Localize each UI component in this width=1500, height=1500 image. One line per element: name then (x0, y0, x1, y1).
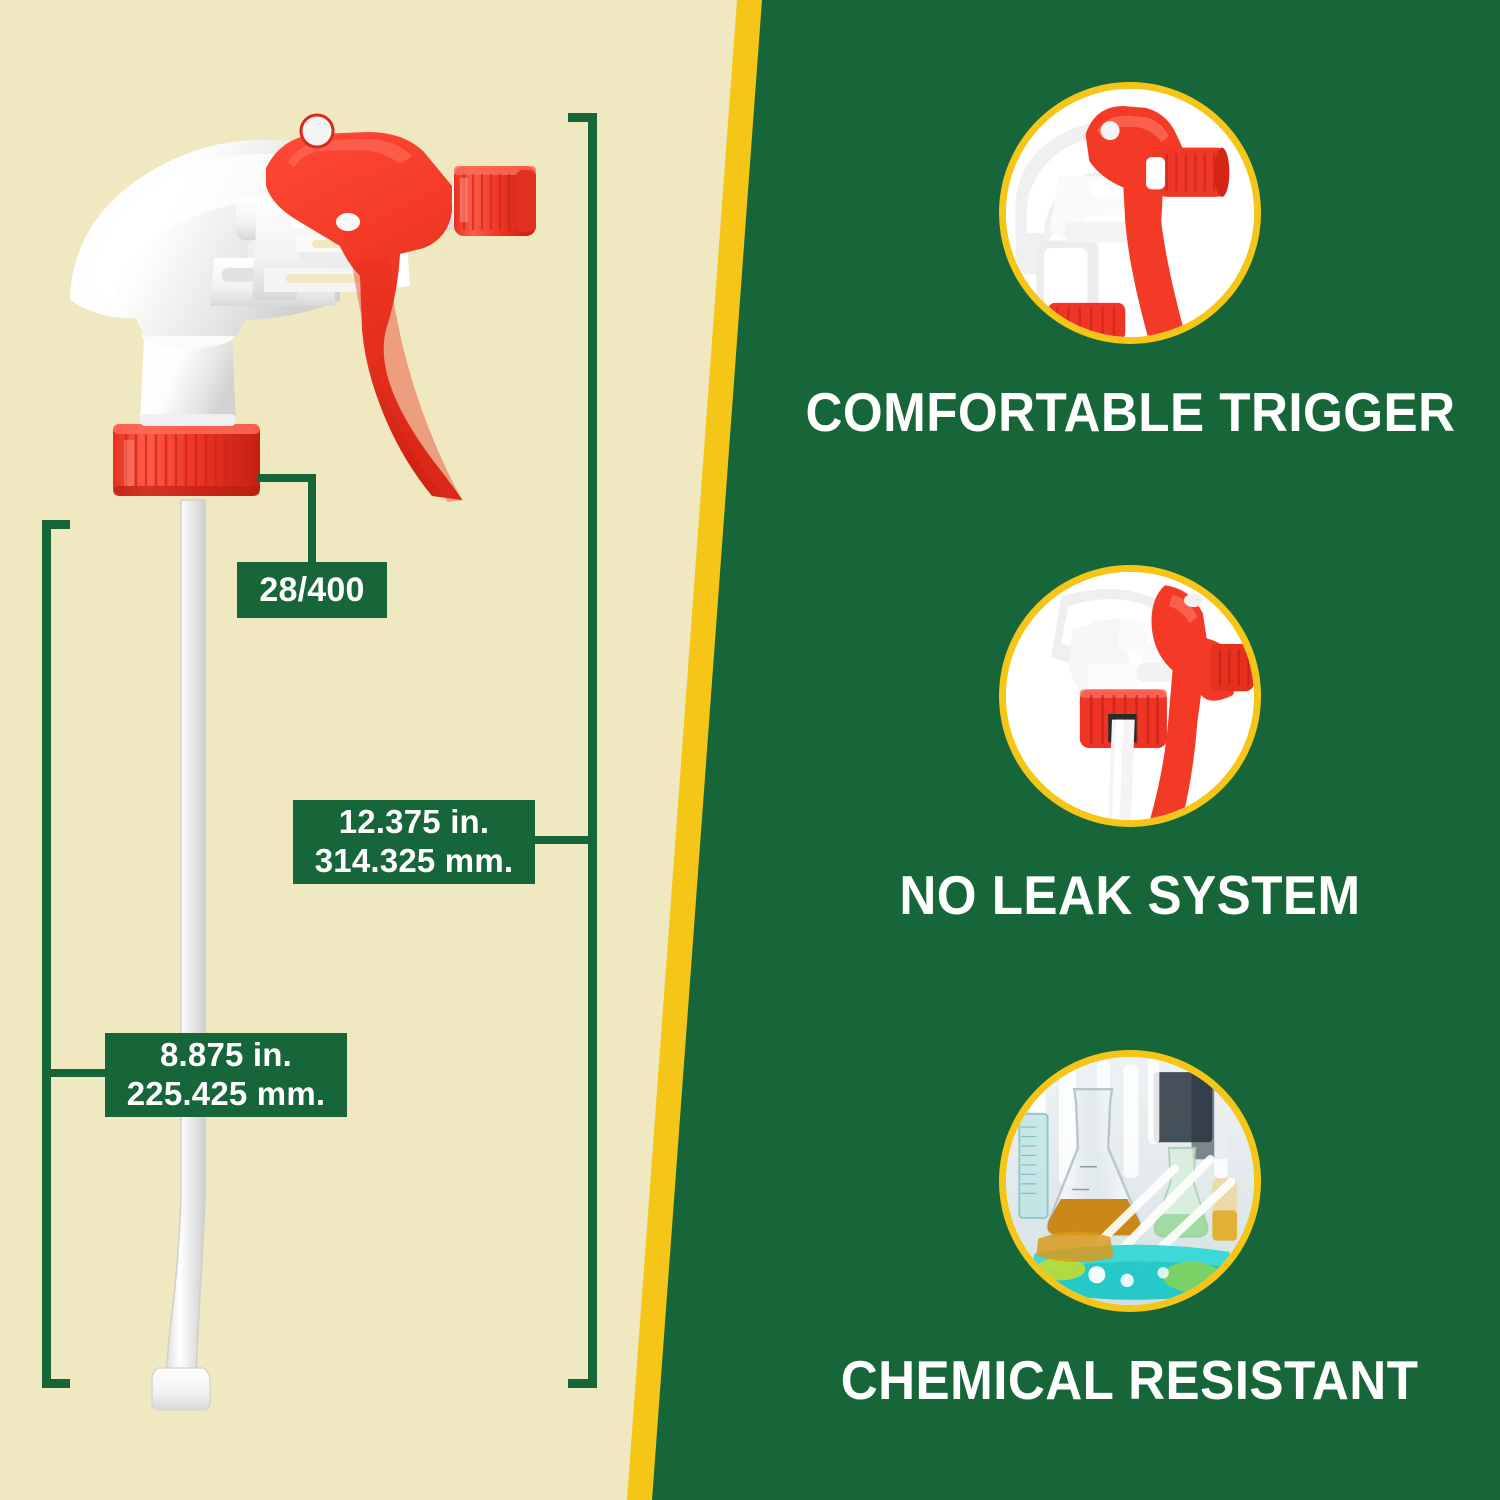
lab-glassware-artwork (1006, 1057, 1254, 1305)
sprayer-neck-closeup-photo (999, 565, 1261, 827)
feature-comfortable-trigger: COMFORTABLE TRIGGER (760, 82, 1500, 444)
overall-length-dimension-bracket (588, 113, 597, 1388)
trigger-closeup-photo (999, 82, 1261, 344)
trigger-closeup-artwork (1006, 89, 1254, 337)
overall-length-bracket-bottom-tick (568, 1379, 597, 1388)
no-leak-closeup-artwork (1006, 572, 1254, 820)
dip-tube-bracket-top-tick (42, 520, 70, 529)
dip-tube-length-label: 8.875 in. 225.425 mm. (105, 1033, 347, 1117)
infographic-canvas: 28/400 12.375 in. 314.325 mm. 8.875 in. … (0, 0, 1500, 1500)
dip-tube-label-millimeters: 225.425 mm. (127, 1075, 326, 1114)
feature-title-comfortable-trigger: COMFORTABLE TRIGGER (805, 380, 1455, 444)
feature-title-no-leak-system: NO LEAK SYSTEM (899, 863, 1360, 927)
feature-no-leak-system: NO LEAK SYSTEM (760, 565, 1500, 927)
dip-tube-label-inches: 8.875 in. (160, 1036, 292, 1075)
overall-length-label-inches: 12.375 in. (339, 803, 490, 842)
trigger-sprayer-illustration (0, 0, 750, 1500)
overall-length-label: 12.375 in. 314.325 mm. (293, 800, 535, 884)
overall-length-label-millimeters: 314.325 mm. (315, 842, 514, 881)
lab-glassware-photo (999, 1050, 1261, 1312)
neck-finish-label-line1: 28/400 (259, 570, 364, 610)
feature-chemical-resistant: CHEMICAL RESISTANT (760, 1050, 1500, 1412)
feature-title-chemical-resistant: CHEMICAL RESISTANT (841, 1348, 1419, 1412)
dip-tube-dimension-bracket (42, 520, 51, 1388)
neck-finish-leader-vertical (308, 474, 316, 570)
overall-length-bracket-top-tick (568, 113, 597, 122)
neck-finish-label: 28/400 (237, 562, 387, 618)
dip-tube-bracket-bottom-tick (42, 1379, 70, 1388)
